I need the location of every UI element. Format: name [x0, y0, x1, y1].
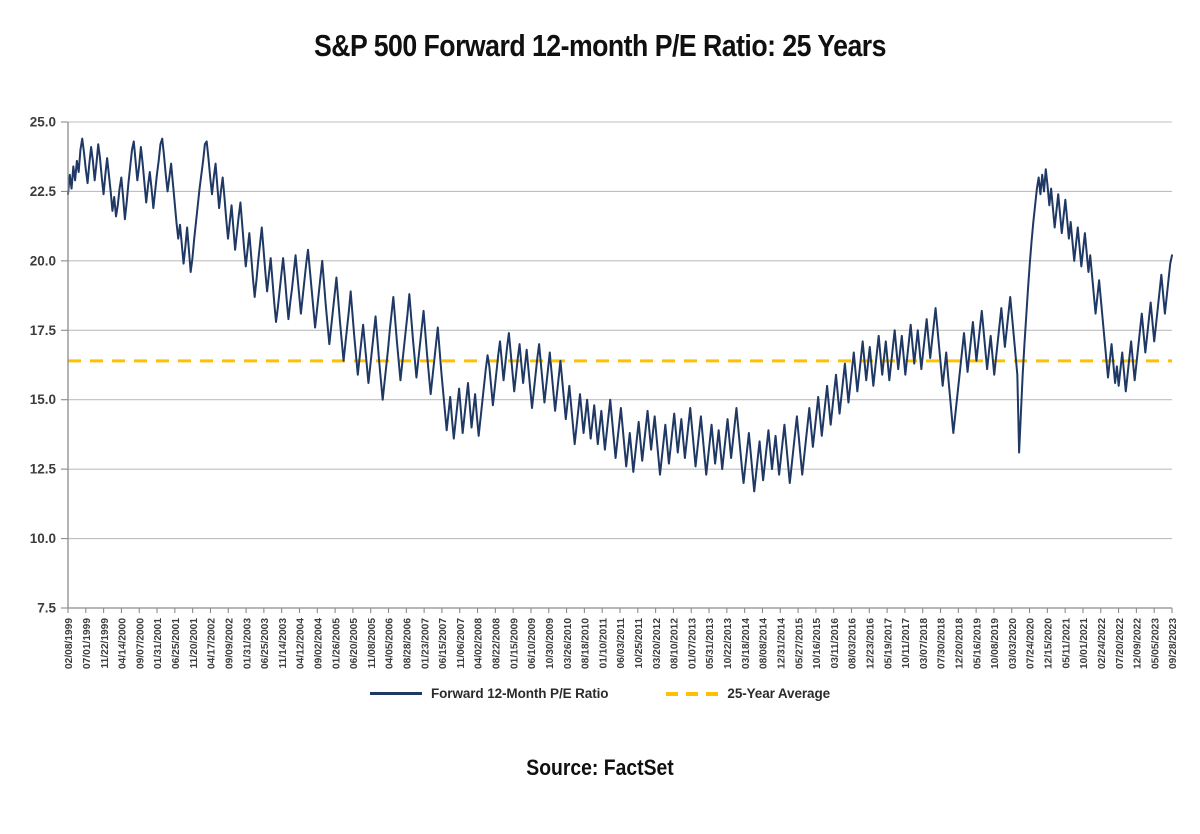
x-axis-tick-label: 01/31/2001 — [153, 618, 164, 669]
axis-lines — [68, 122, 1172, 608]
x-axis-tick-label: 11/20/2001 — [189, 618, 200, 669]
x-axis-tick-label: 05/16/2019 — [972, 618, 983, 669]
x-axis-tick-label: 12/15/2020 — [1044, 618, 1055, 669]
legend-swatch-dashed-icon — [666, 692, 718, 696]
source-note: Source: FactSet — [72, 755, 1128, 781]
x-axis-tick-label: 01/15/2009 — [509, 618, 520, 669]
x-axis-tick-label: 10/16/2015 — [812, 618, 823, 669]
x-axis-tick-label: 10/01/2021 — [1079, 618, 1090, 669]
x-axis-tick-label: 03/26/2010 — [563, 618, 574, 669]
x-axis-tick-label: 08/08/2014 — [759, 618, 770, 669]
line-chart-plot: 25.022.520.017.515.012.510.07.5 02/08/19… — [0, 0, 1200, 834]
x-axis-tick-label: 01/07/2013 — [687, 618, 698, 669]
x-axis-tick-label: 04/14/2000 — [118, 618, 129, 669]
x-axis-tick-label: 05/05/2023 — [1150, 618, 1161, 669]
x-axis-tick-label: 03/18/2014 — [741, 618, 752, 669]
x-axis-tick-label: 07/24/2020 — [1026, 618, 1037, 669]
y-axis-ticks: 25.022.520.017.515.012.510.07.5 — [30, 115, 68, 616]
x-axis-tick-label: 01/10/2011 — [598, 618, 609, 669]
x-axis-tick-label: 04/12/2004 — [296, 618, 307, 669]
x-axis-tick-label: 09/28/2023 — [1168, 618, 1179, 669]
x-axis-tick-label: 08/03/2016 — [848, 618, 859, 669]
y-axis-tick-label: 25.0 — [30, 115, 56, 130]
x-axis-tick-label: 02/24/2022 — [1097, 618, 1108, 669]
x-axis-tick-label: 07/01/1999 — [82, 618, 93, 669]
x-axis-tick-label: 08/10/2012 — [670, 618, 681, 669]
x-axis-ticks: 02/08/199907/01/199911/22/199904/14/2000… — [64, 608, 1179, 669]
x-axis-tick-label: 01/26/2005 — [331, 618, 342, 669]
x-axis-tick-label: 02/08/1999 — [64, 618, 75, 669]
x-axis-tick-label: 06/20/2005 — [349, 618, 360, 669]
x-axis-tick-label: 10/30/2009 — [545, 618, 556, 669]
gridlines-group — [68, 122, 1172, 608]
y-axis-tick-label: 22.5 — [30, 184, 57, 199]
x-axis-tick-label: 12/31/2014 — [776, 618, 787, 669]
x-axis-tick-label: 10/25/2011 — [634, 618, 645, 669]
x-axis-tick-label: 04/17/2002 — [207, 618, 218, 669]
y-axis-tick-label: 12.5 — [30, 462, 57, 477]
legend-item-average: 25-Year Average — [666, 686, 830, 701]
y-axis-tick-label: 10.0 — [30, 531, 56, 546]
x-axis-tick-label: 05/11/2021 — [1061, 618, 1072, 669]
x-axis-tick-label: 10/11/2017 — [901, 618, 912, 669]
x-axis-tick-label: 12/20/2018 — [955, 618, 966, 669]
x-axis-tick-label: 07/30/2018 — [937, 618, 948, 669]
legend-label-series: Forward 12-Month P/E Ratio — [431, 686, 608, 701]
x-axis-tick-label: 06/25/2001 — [171, 618, 182, 669]
legend-item-series: Forward 12-Month P/E Ratio — [370, 686, 608, 701]
x-axis-tick-label: 04/05/2006 — [385, 618, 396, 669]
x-axis-tick-label: 04/02/2008 — [474, 618, 485, 669]
x-axis-tick-label: 08/22/2008 — [492, 618, 503, 669]
x-axis-tick-label: 05/27/2015 — [794, 618, 805, 669]
x-axis-tick-label: 05/19/2017 — [883, 618, 894, 669]
x-axis-tick-label: 11/14/2003 — [278, 618, 289, 669]
x-axis-tick-label: 11/22/1999 — [100, 618, 111, 669]
x-axis-tick-label: 06/03/2011 — [616, 618, 627, 669]
y-axis-tick-label: 20.0 — [30, 253, 56, 268]
chart-container: S&P 500 Forward 12-month P/E Ratio: 25 Y… — [0, 0, 1200, 834]
x-axis-tick-label: 07/20/2022 — [1115, 618, 1126, 669]
x-axis-tick-label: 03/11/2016 — [830, 618, 841, 669]
x-axis-tick-label: 01/31/2003 — [242, 618, 253, 669]
legend-swatch-solid-icon — [370, 692, 422, 695]
x-axis-tick-label: 10/08/2019 — [990, 618, 1001, 669]
x-axis-tick-label: 06/25/2003 — [260, 618, 271, 669]
x-axis-tick-label: 03/20/2012 — [652, 618, 663, 669]
x-axis-tick-label: 10/22/2013 — [723, 618, 734, 669]
x-axis-tick-label: 12/09/2022 — [1133, 618, 1144, 669]
x-axis-tick-label: 03/07/2018 — [919, 618, 930, 669]
x-axis-tick-label: 09/09/2002 — [224, 618, 235, 669]
x-axis-tick-label: 03/03/2020 — [1008, 618, 1019, 669]
y-axis-tick-label: 15.0 — [30, 392, 56, 407]
x-axis-tick-label: 09/02/2004 — [313, 618, 324, 669]
x-axis-tick-label: 11/08/2005 — [367, 618, 378, 669]
x-axis-tick-label: 08/18/2010 — [581, 618, 592, 669]
x-axis-tick-label: 06/15/2007 — [438, 618, 449, 669]
x-axis-tick-label: 06/10/2009 — [527, 618, 538, 669]
legend-label-average: 25-Year Average — [727, 686, 830, 701]
chart-legend: Forward 12-Month P/E Ratio 25-Year Avera… — [0, 686, 1200, 701]
y-axis-tick-label: 17.5 — [30, 323, 57, 338]
x-axis-tick-label: 01/23/2007 — [420, 618, 431, 669]
x-axis-tick-label: 11/06/2007 — [456, 618, 467, 669]
x-axis-tick-label: 05/31/2013 — [705, 618, 716, 669]
x-axis-tick-label: 08/28/2006 — [403, 618, 414, 669]
x-axis-tick-label: 09/07/2000 — [135, 618, 146, 669]
x-axis-tick-label: 12/23/2016 — [865, 618, 876, 669]
y-axis-tick-label: 7.5 — [37, 601, 56, 616]
